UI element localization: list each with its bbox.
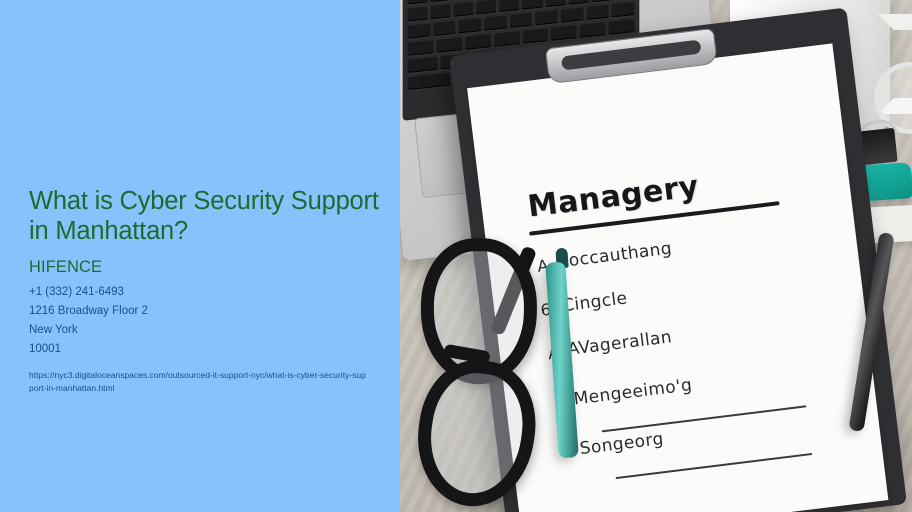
clipboard-clamp-inner [561,40,702,71]
key [545,0,565,7]
key [433,21,456,36]
key [586,5,609,20]
note-line: Cingcle [561,288,628,316]
key [436,37,462,53]
page-title: What is Cyber Security Support in Manhat… [29,186,381,246]
key [454,2,474,17]
address-line-1: 1216 Broadway Floor 2 [29,302,381,321]
text-block: What is Cyber Security Support in Manhat… [29,186,381,395]
note-line: Songeorg [579,429,665,459]
key [431,4,451,19]
key [510,13,533,28]
phone-number: +1 (332) 241-6493 [29,283,381,302]
key [591,0,611,2]
key [609,19,635,35]
key [408,0,428,5]
key [499,0,519,12]
key [408,57,438,73]
key [551,25,577,41]
key [408,73,451,91]
source-url[interactable]: https://nyc3.digitaloceanspaces.com/outs… [29,369,367,395]
info-panel: What is Cyber Security Support in Manhat… [0,0,400,512]
key [494,31,520,47]
key [408,40,434,56]
key [561,7,584,22]
key [477,0,497,14]
photo-panel: Managery A Boccauthang 6 Cingcle A AVage… [400,0,912,512]
note-line: Mengeeimo'g [573,375,694,409]
key [465,34,491,50]
key [612,2,635,17]
key [484,15,507,30]
key [408,23,431,38]
eyeglasses [409,214,538,491]
note-line: Boccauthang [556,239,673,273]
key [408,7,428,22]
slide-root: What is Cyber Security Support in Manhat… [0,0,912,512]
key [431,0,451,2]
note-rule [616,453,813,479]
key [568,0,588,5]
address-line-2: New York [29,321,381,340]
key [580,22,606,38]
key [522,0,542,10]
postal-code: 10001 [29,340,381,359]
brand-name: HIFENCE [29,258,381,277]
key [535,10,558,25]
key [522,28,548,44]
note-line: AVagerallan [566,327,673,360]
key [459,18,482,33]
desk-photo: Managery A Boccauthang 6 Cingcle A AVage… [400,0,912,512]
note-rule [602,405,807,432]
